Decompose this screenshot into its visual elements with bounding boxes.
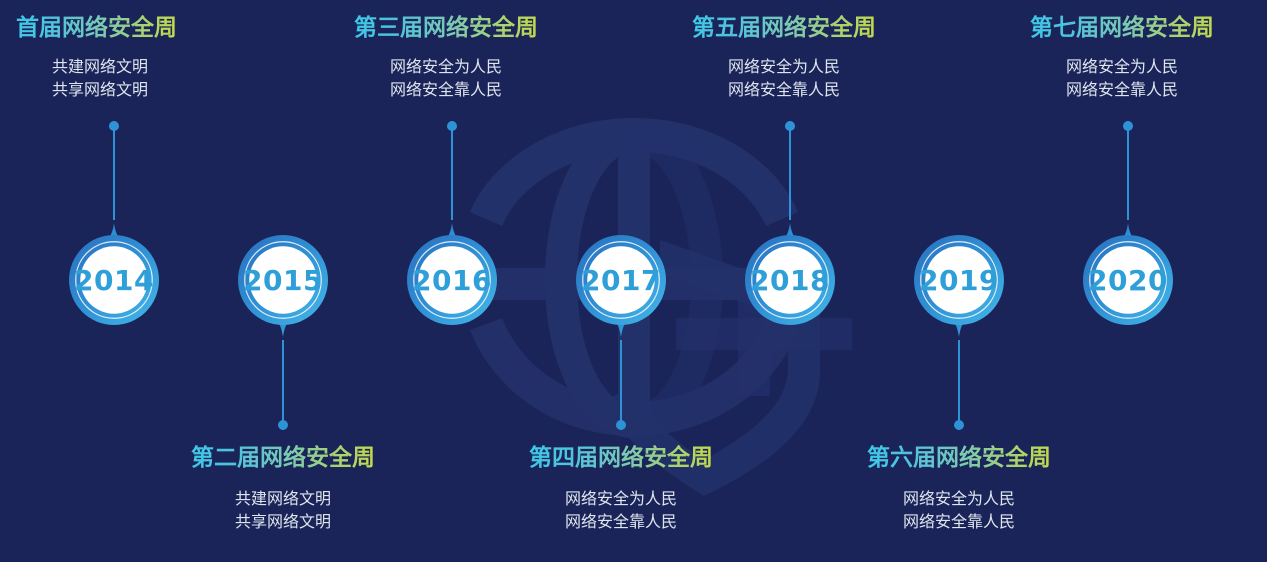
timeline-marker-2017[interactable]: 2017 <box>561 220 681 340</box>
entry-subtitle: 网络安全为人民网络安全靠人民 <box>1066 55 1214 101</box>
entry-subtitle: 网络安全为人民网络安全靠人民 <box>390 55 538 101</box>
entry-subtitle: 共建网络文明共享网络文明 <box>52 55 177 101</box>
marker-year-label: 2017 <box>561 220 681 340</box>
connector-dot <box>954 420 964 430</box>
connector-dot <box>616 420 626 430</box>
connector-stem <box>789 121 791 220</box>
entry-title: 第二届网络安全周 <box>191 444 375 473</box>
timeline-entry-2020: 第七届网络安全周网络安全为人民网络安全靠人民 <box>1030 14 1214 101</box>
entry-title: 首届网络安全周 <box>16 14 177 43</box>
timeline-entry-2019: 第六届网络安全周网络安全为人民网络安全靠人民 <box>789 444 1129 533</box>
entry-subtitle-line-2: 网络安全靠人民 <box>789 510 1129 533</box>
timeline-entry-2018: 第五届网络安全周网络安全为人民网络安全靠人民 <box>692 14 876 101</box>
timeline-connector-2018 <box>784 121 796 220</box>
connector-dot <box>109 121 119 131</box>
entry-subtitle-line-1: 共建网络文明 <box>113 487 453 510</box>
timeline-marker-2014[interactable]: 2014 <box>54 220 174 340</box>
entry-subtitle-line-1: 网络安全为人民 <box>390 55 538 78</box>
entry-subtitle-line-2: 共享网络文明 <box>113 510 453 533</box>
entry-subtitle-line-2: 网络安全靠人民 <box>728 78 876 101</box>
entry-title: 第七届网络安全周 <box>1030 14 1214 43</box>
connector-dot <box>1123 121 1133 131</box>
entry-title: 第三届网络安全周 <box>354 14 538 43</box>
timeline-entry-2016: 第三届网络安全周网络安全为人民网络安全靠人民 <box>354 14 538 101</box>
connector-dot <box>785 121 795 131</box>
entry-subtitle-line-1: 网络安全为人民 <box>728 55 876 78</box>
entry-title: 第四届网络安全周 <box>529 444 713 473</box>
entry-title: 第六届网络安全周 <box>867 444 1051 473</box>
entry-subtitle-line-2: 网络安全靠人民 <box>451 510 791 533</box>
marker-year-label: 2014 <box>54 220 174 340</box>
marker-year-label: 2015 <box>223 220 343 340</box>
entry-subtitle-line-2: 共享网络文明 <box>52 78 177 101</box>
timeline-entry-2014: 首届网络安全周共建网络文明共享网络文明 <box>16 14 177 101</box>
connector-stem <box>620 340 622 430</box>
marker-year-label: 2016 <box>392 220 512 340</box>
entry-subtitle: 网络安全为人民网络安全靠人民 <box>451 487 791 533</box>
timeline-connector-2020 <box>1122 121 1134 220</box>
timeline-infographic: 2014201520162017201820192020 首届网络安全周共建网络… <box>0 0 1267 562</box>
entry-subtitle-line-2: 网络安全靠人民 <box>390 78 538 101</box>
connector-stem <box>958 340 960 430</box>
timeline-marker-2016[interactable]: 2016 <box>392 220 512 340</box>
timeline-connector-2014 <box>108 121 120 220</box>
entry-subtitle: 网络安全为人民网络安全靠人民 <box>728 55 876 101</box>
entry-subtitle: 网络安全为人民网络安全靠人民 <box>789 487 1129 533</box>
entry-title: 第五届网络安全周 <box>692 14 876 43</box>
timeline-connector-2019 <box>953 340 965 430</box>
entry-subtitle-line-2: 网络安全靠人民 <box>1066 78 1214 101</box>
entry-subtitle: 共建网络文明共享网络文明 <box>113 487 453 533</box>
entry-subtitle-line-1: 网络安全为人民 <box>1066 55 1214 78</box>
timeline-connector-2017 <box>615 340 627 430</box>
connector-stem <box>451 121 453 220</box>
timeline-entry-2015: 第二届网络安全周共建网络文明共享网络文明 <box>113 444 453 533</box>
timeline-marker-2018[interactable]: 2018 <box>730 220 850 340</box>
connector-dot <box>278 420 288 430</box>
marker-year-label: 2019 <box>899 220 1019 340</box>
connector-stem <box>282 340 284 430</box>
connector-stem <box>1127 121 1129 220</box>
timeline-marker-2020[interactable]: 2020 <box>1068 220 1188 340</box>
timeline-entry-2017: 第四届网络安全周网络安全为人民网络安全靠人民 <box>451 444 791 533</box>
timeline-connector-2016 <box>446 121 458 220</box>
entry-subtitle-line-1: 共建网络文明 <box>52 55 177 78</box>
entry-subtitle-line-1: 网络安全为人民 <box>789 487 1129 510</box>
timeline-marker-2019[interactable]: 2019 <box>899 220 1019 340</box>
connector-stem <box>113 121 115 220</box>
entry-subtitle-line-1: 网络安全为人民 <box>451 487 791 510</box>
marker-year-label: 2018 <box>730 220 850 340</box>
timeline-marker-2015[interactable]: 2015 <box>223 220 343 340</box>
connector-dot <box>447 121 457 131</box>
marker-year-label: 2020 <box>1068 220 1188 340</box>
timeline-connector-2015 <box>277 340 289 430</box>
